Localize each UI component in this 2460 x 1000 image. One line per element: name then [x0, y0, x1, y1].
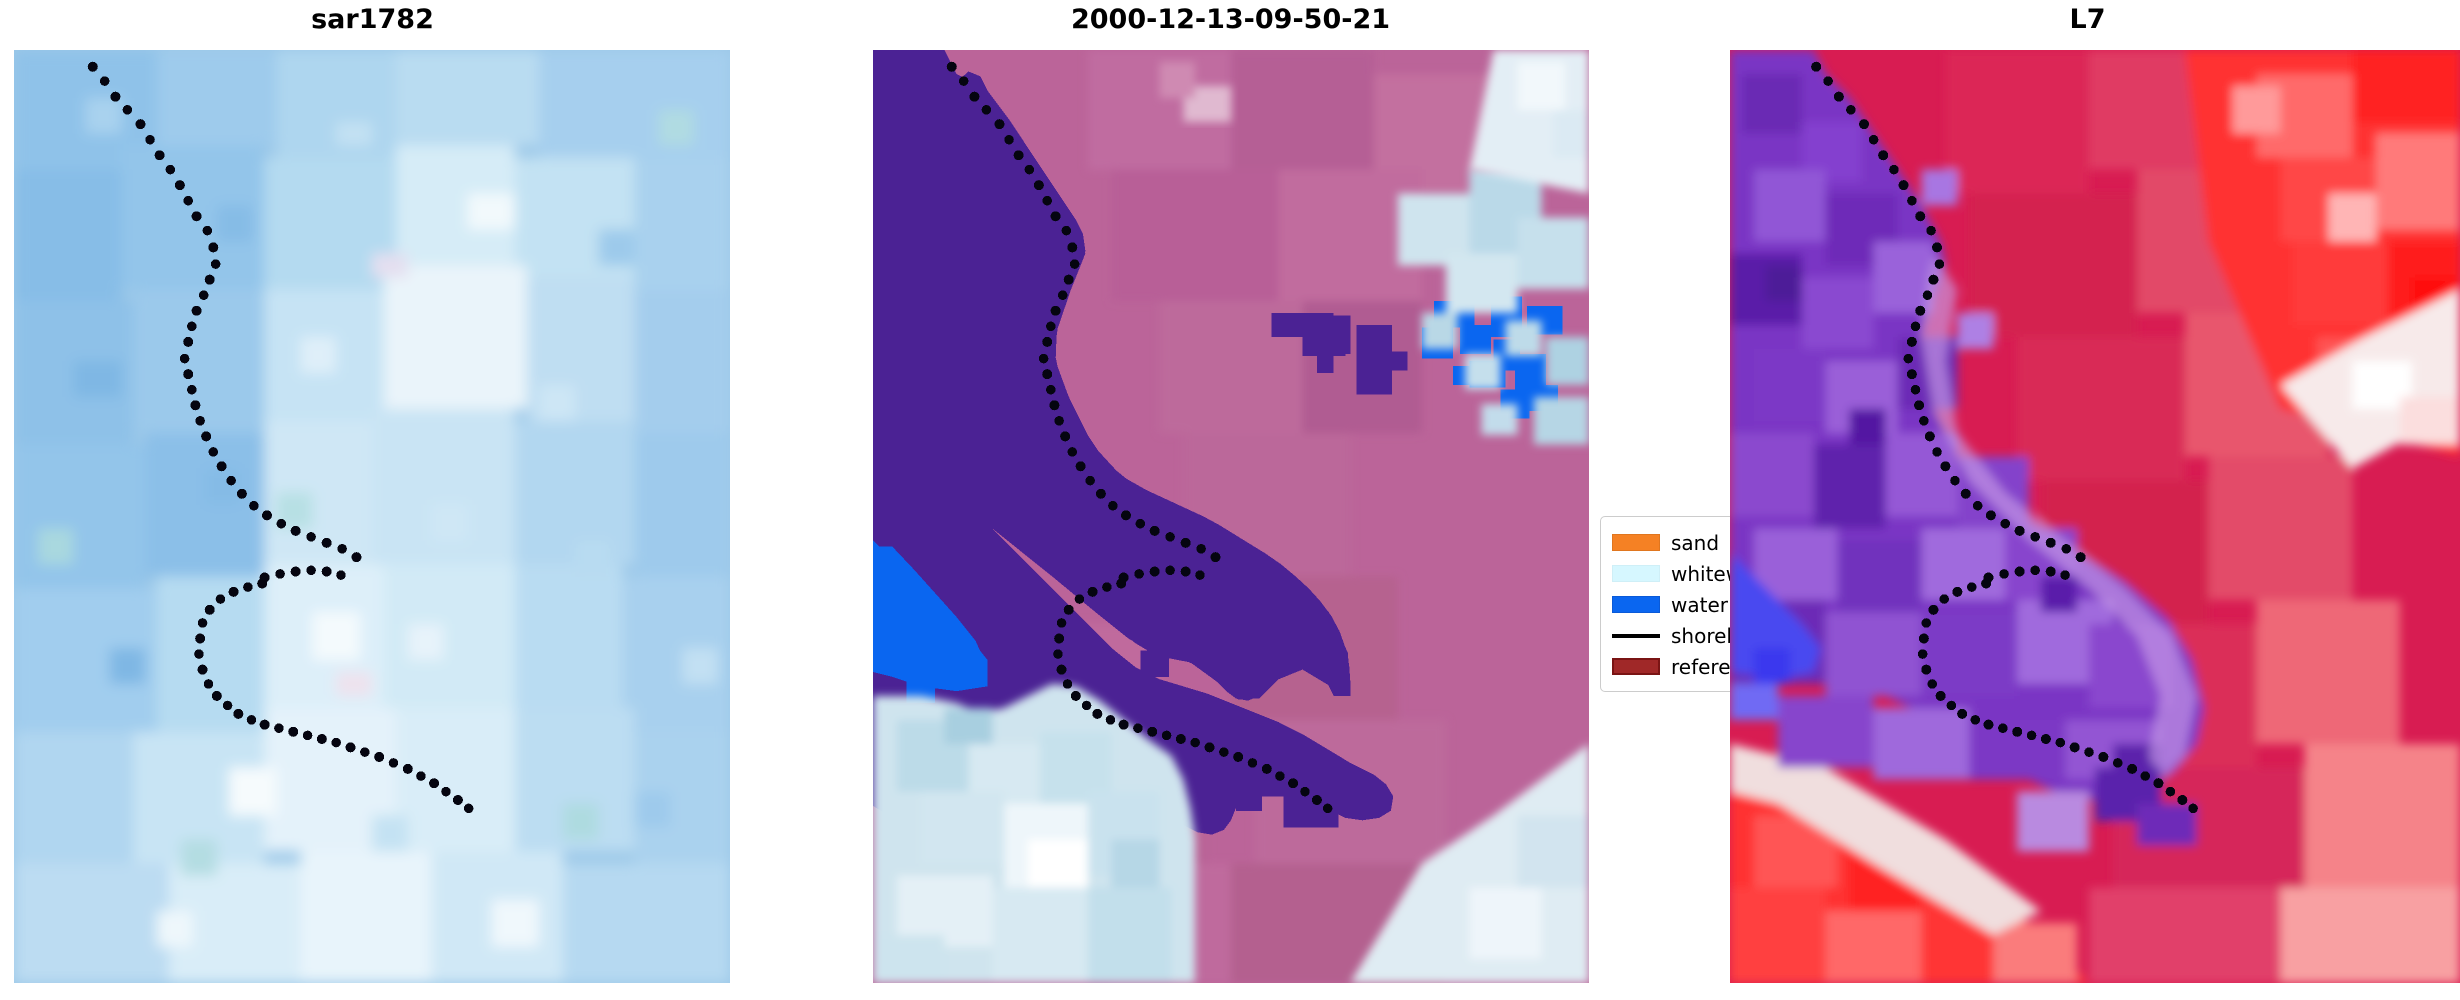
- panel-l7: L7: [1715, 0, 2460, 1000]
- panel-sar1782: sar1782: [0, 0, 745, 1000]
- water-swatch-icon: [1612, 596, 1660, 613]
- panel-2000-12-13-09-50-21: 2000-12-13-09-50-21: [858, 0, 1603, 1000]
- panel-image-l7[interactable]: [1730, 50, 2460, 983]
- classification-overlay-raster: [873, 50, 1589, 983]
- legend-item-whitewater[interactable]: whitewater: [1601, 558, 1730, 589]
- legend-item-water[interactable]: water: [1601, 589, 1730, 620]
- landsat7-false-color-raster: [1730, 50, 2460, 983]
- whitewater-swatch-icon: [1612, 565, 1660, 582]
- panel-title-l7: L7: [1715, 4, 2460, 35]
- legend-label-shoreline: shoreline: [1671, 624, 1730, 648]
- panel-title-acquisition: 2000-12-13-09-50-21: [858, 4, 1603, 35]
- sar-composite-raster: [14, 50, 730, 983]
- shoreline-line-icon: [1612, 627, 1660, 644]
- panel-image-classified[interactable]: [873, 50, 1589, 983]
- legend-item-reference[interactable]: reference: [1601, 651, 1730, 682]
- legend-clip-region: sand whitewater water shoreline referenc…: [1600, 516, 1730, 692]
- legend-label-sand: sand: [1671, 531, 1719, 555]
- panel-title-sar1782: sar1782: [0, 4, 745, 35]
- legend-item-shoreline[interactable]: shoreline: [1601, 620, 1730, 651]
- legend-item-sand[interactable]: sand: [1601, 527, 1730, 558]
- sand-swatch-icon: [1612, 534, 1660, 551]
- legend-label-whitewater: whitewater: [1671, 562, 1730, 586]
- legend: sand whitewater water shoreline referenc…: [1600, 516, 1730, 692]
- legend-label-water: water: [1671, 593, 1728, 617]
- reference-swatch-icon: [1612, 658, 1660, 675]
- panel-image-sar1782[interactable]: [14, 50, 730, 983]
- legend-label-reference: reference: [1671, 655, 1730, 679]
- figure-canvas: sar1782: [0, 0, 2460, 1000]
